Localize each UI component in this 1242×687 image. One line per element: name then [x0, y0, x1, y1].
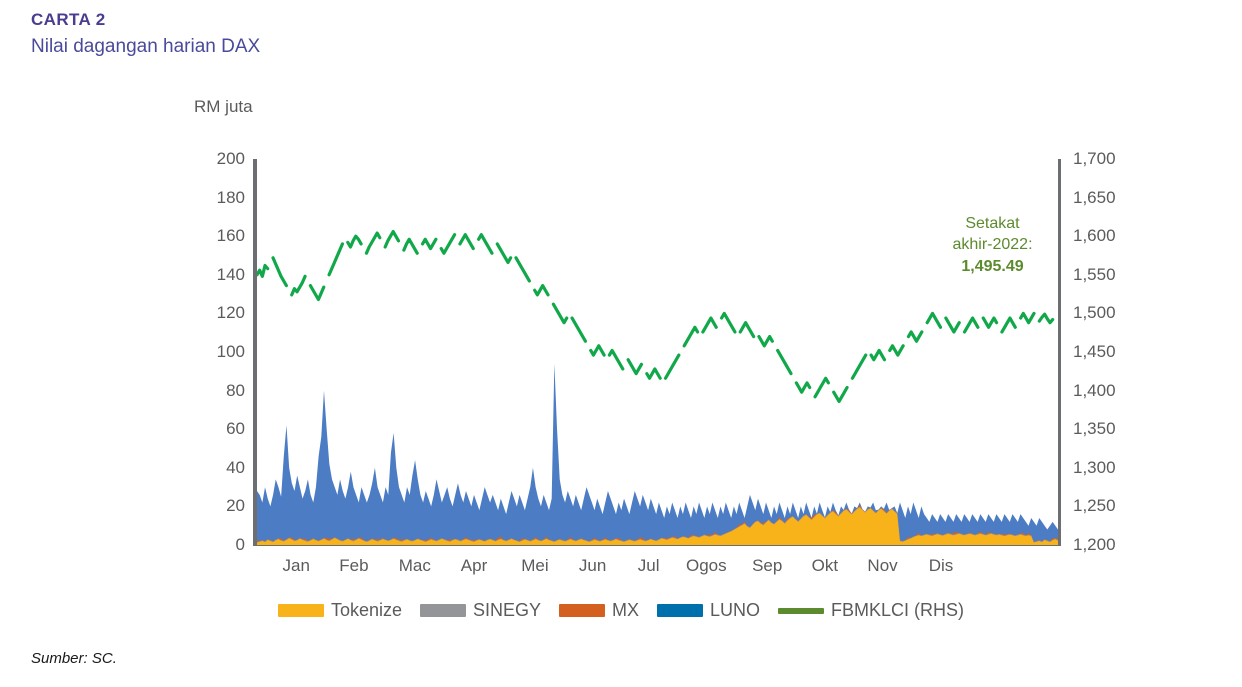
x-axis-tick-mac: Mac — [399, 556, 431, 576]
legend-item-sinegy[interactable]: SINEGY — [420, 600, 541, 621]
y-axis-left-tick-160: 160 — [193, 227, 245, 244]
y-axis-left-tick-120: 120 — [193, 304, 245, 321]
x-axis-tick-jun: Jun — [579, 556, 606, 576]
y-axis-left-tick-40: 40 — [193, 459, 245, 476]
x-axis-tick-mei: Mei — [521, 556, 548, 576]
legend-label: FBMKLCI (RHS) — [831, 600, 964, 621]
annotation-line1: Setakat — [965, 215, 1019, 232]
y-axis-right-tick-1700: 1,700 — [1073, 150, 1143, 167]
y-axis-left-tick-20: 20 — [193, 497, 245, 514]
chart-number-label: CARTA 2 — [31, 10, 106, 30]
legend-label: SINEGY — [473, 600, 541, 621]
y-axis-right-tick-1600: 1,600 — [1073, 227, 1143, 244]
legend-label: LUNO — [710, 600, 760, 621]
x-axis-tick-ogos: Ogos — [686, 556, 727, 576]
chart-page: CARTA 2 Nilai dagangan harian DAX RM jut… — [0, 0, 1242, 687]
x-axis-tick-jul: Jul — [638, 556, 660, 576]
y-axis-right-line — [1058, 159, 1061, 546]
x-axis-tick-nov: Nov — [867, 556, 897, 576]
x-axis-tick-okt: Okt — [812, 556, 838, 576]
legend-label: MX — [612, 600, 639, 621]
legend-item-luno[interactable]: LUNO — [657, 600, 760, 621]
y-axis-left-tick-140: 140 — [193, 266, 245, 283]
chart-legend: TokenizeSINEGYMXLUNOFBMKLCI (RHS) — [0, 600, 1242, 621]
legend-swatch-luno-icon — [657, 604, 703, 617]
page-title: Nilai dagangan harian DAX — [31, 36, 260, 58]
y-axis-right-tick-1250: 1,250 — [1073, 497, 1143, 514]
y-axis-right-tick-1350: 1,350 — [1073, 420, 1143, 437]
legend-label: Tokenize — [331, 600, 402, 621]
legend-item-mx[interactable]: MX — [559, 600, 639, 621]
annotation-line2: akhir-2022: — [952, 236, 1032, 253]
y-axis-left-tick-180: 180 — [193, 189, 245, 206]
legend-item-tokenize[interactable]: Tokenize — [278, 600, 402, 621]
y-axis-left-tick-200: 200 — [193, 150, 245, 167]
legend-swatch-sinegy-icon — [420, 604, 466, 617]
y-axis-right-tick-1650: 1,650 — [1073, 189, 1143, 206]
y-axis-right-tick-1300: 1,300 — [1073, 459, 1143, 476]
y-axis-left-tick-0: 0 — [193, 536, 245, 553]
x-axis-tick-jan: Jan — [283, 556, 310, 576]
y-axis-right-tick-1500: 1,500 — [1073, 304, 1143, 321]
y-axis-right-tick-1400: 1,400 — [1073, 382, 1143, 399]
x-axis-tick-feb: Feb — [339, 556, 368, 576]
source-note: Sumber: SC. — [31, 650, 117, 667]
y-axis-left-tick-80: 80 — [193, 382, 245, 399]
y-axis-right-tick-1550: 1,550 — [1073, 266, 1143, 283]
legend-swatch-tokenize-icon — [278, 604, 324, 617]
y-axis-right-tick-1200: 1,200 — [1073, 536, 1143, 553]
y-axis-left-tick-100: 100 — [193, 343, 245, 360]
y-axis-left-tick-60: 60 — [193, 420, 245, 437]
y-axis-unit-label: RM juta — [194, 97, 253, 117]
x-axis-tick-dis: Dis — [929, 556, 954, 576]
annotation-setakat: Setakat akhir-2022: 1,495.49 — [930, 213, 1055, 277]
annotation-value: 1,495.49 — [930, 256, 1055, 277]
series-luno-area — [257, 364, 1058, 545]
legend-item-fbmklci[interactable]: FBMKLCI (RHS) — [778, 600, 964, 621]
legend-swatch-fbmklci-icon — [778, 608, 824, 614]
legend-swatch-mx-icon — [559, 604, 605, 617]
y-axis-right-tick-1450: 1,450 — [1073, 343, 1143, 360]
x-axis-tick-apr: Apr — [461, 556, 487, 576]
x-axis-tick-sep: Sep — [752, 556, 782, 576]
